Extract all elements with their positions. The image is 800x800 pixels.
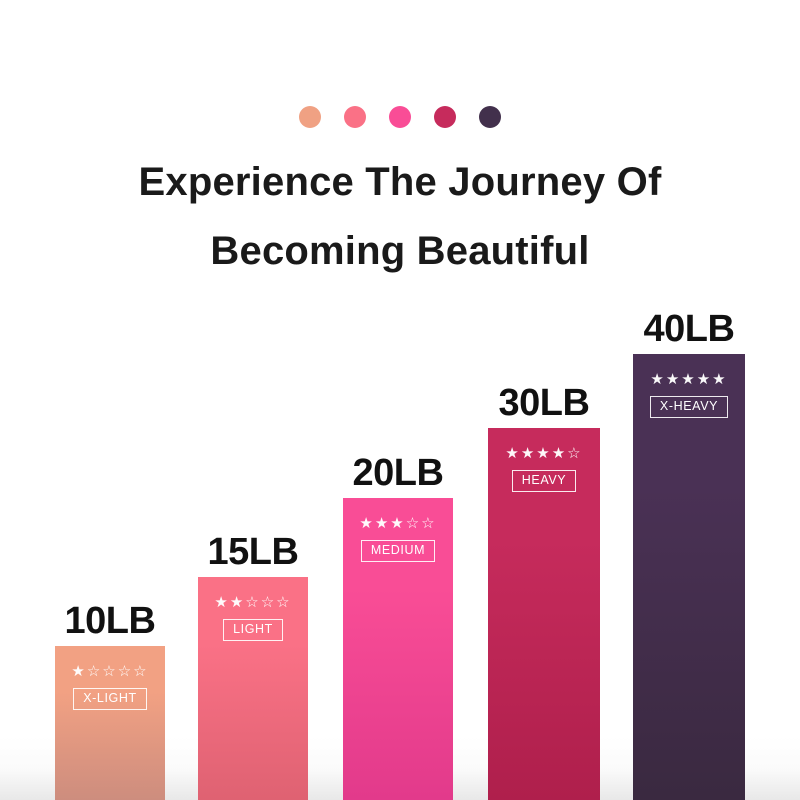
bar-30lb-content: ★★★★☆HEAVY — [488, 446, 600, 492]
bar-40lb-star-rating-icon: ★★★★★ — [633, 372, 745, 387]
resistance-band-bar-chart: 10LB★☆☆☆☆X-LIGHT15LB★★☆☆☆LIGHT20LB★★★☆☆M… — [0, 0, 800, 800]
bar-20lb-tier-badge: MEDIUM — [361, 540, 435, 562]
bar-15lb-star-rating-icon: ★★☆☆☆ — [198, 595, 308, 610]
bar-15lb-tier-badge: LIGHT — [223, 619, 283, 641]
bar-20lb-value-label: 20LB — [353, 454, 444, 492]
poster-canvas: Experience The Journey Of Becoming Beaut… — [0, 0, 800, 800]
bar-20lb-star-rating-icon: ★★★☆☆ — [343, 516, 453, 531]
bar-40lb-rect: ★★★★★X-HEAVY — [633, 354, 745, 800]
bar-40lb-value-label: 40LB — [644, 310, 735, 348]
bar-10lb-value-label: 10LB — [65, 602, 156, 640]
bar-15lb-rect: ★★☆☆☆LIGHT — [198, 577, 308, 800]
bar-30lb-rect: ★★★★☆HEAVY — [488, 428, 600, 800]
bar-30lb-star-rating-icon: ★★★★☆ — [488, 446, 600, 461]
bar-10lb-star-rating-icon: ★☆☆☆☆ — [55, 664, 165, 679]
bar-30lb-value-label: 30LB — [499, 384, 590, 422]
bar-15lb-content: ★★☆☆☆LIGHT — [198, 595, 308, 641]
bar-20lb-rect: ★★★☆☆MEDIUM — [343, 498, 453, 800]
bar-15lb: 15LB★★☆☆☆LIGHT — [198, 577, 308, 800]
bar-20lb-content: ★★★☆☆MEDIUM — [343, 516, 453, 562]
bar-40lb-tier-badge: X-HEAVY — [650, 396, 728, 418]
bar-30lb: 30LB★★★★☆HEAVY — [488, 428, 600, 800]
bar-30lb-tier-badge: HEAVY — [512, 470, 576, 492]
bar-20lb: 20LB★★★☆☆MEDIUM — [343, 498, 453, 800]
bar-10lb-rect: ★☆☆☆☆X-LIGHT — [55, 646, 165, 800]
bar-10lb-tier-badge: X-LIGHT — [73, 688, 147, 710]
bar-40lb: 40LB★★★★★X-HEAVY — [633, 354, 745, 800]
bar-10lb-content: ★☆☆☆☆X-LIGHT — [55, 664, 165, 710]
bar-10lb: 10LB★☆☆☆☆X-LIGHT — [55, 646, 165, 800]
bar-40lb-content: ★★★★★X-HEAVY — [633, 372, 745, 418]
bar-15lb-value-label: 15LB — [208, 533, 299, 571]
